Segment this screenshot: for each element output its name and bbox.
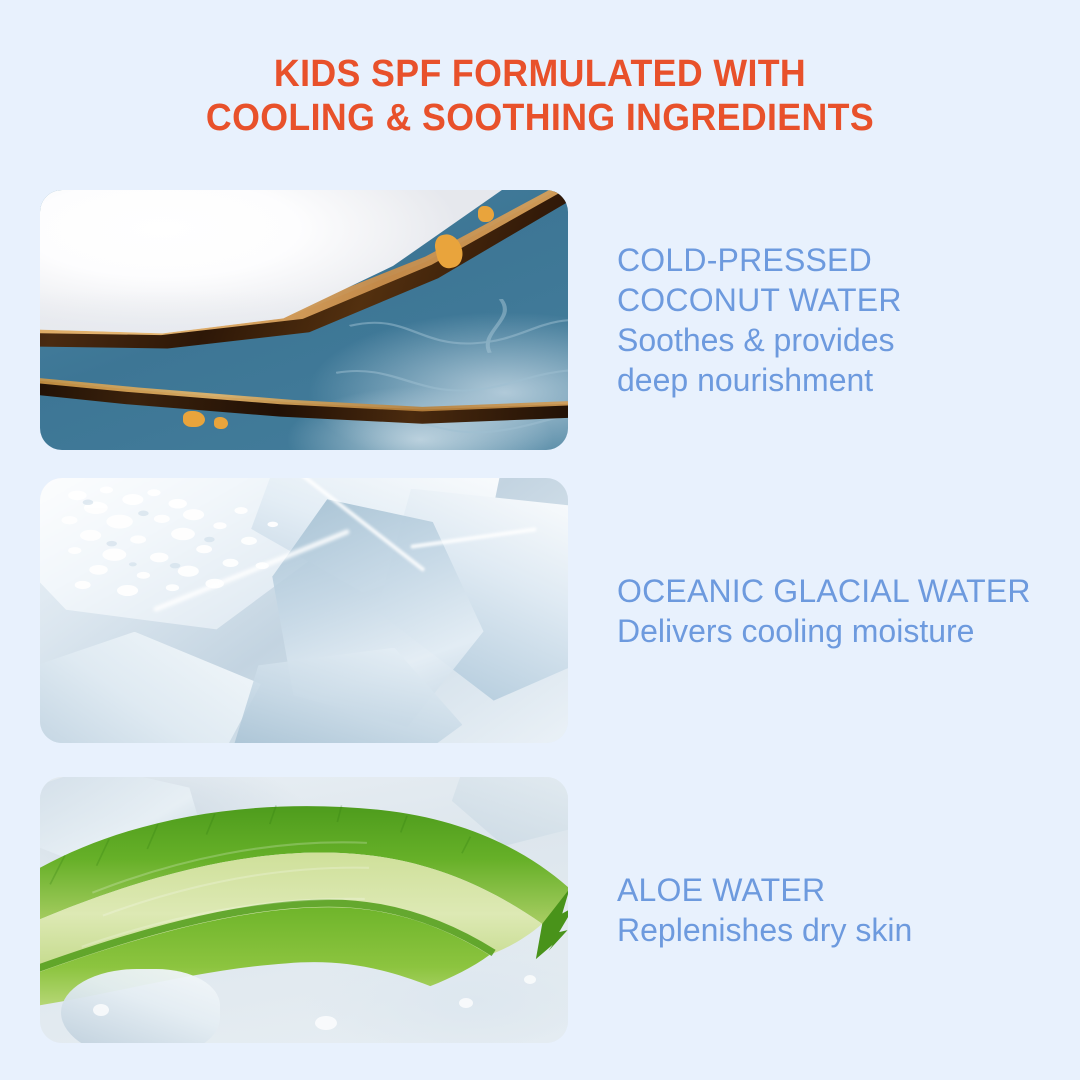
- coconut-fragment-icon: [478, 206, 494, 222]
- page-title: KIDS SPF FORMULATED WITH COOLING & SOOTH…: [32, 52, 1047, 140]
- water-droplet-icon: [315, 1016, 337, 1030]
- coconut-water-photo: [40, 190, 568, 450]
- aloe-water-photo: [40, 777, 568, 1043]
- ingredient-name: COLD-PRESSEDCOCONUT WATER: [617, 240, 1040, 320]
- page-title-line-2: COOLING & SOOTHING INGREDIENTS: [32, 96, 1047, 140]
- ingredient-copy-oceanic-glacial-water: OCEANIC GLACIAL WATER Delivers cooling m…: [568, 571, 1040, 651]
- ingredient-copy-coconut-water: COLD-PRESSEDCOCONUT WATER Soothes & prov…: [568, 240, 1040, 400]
- coconut-fragment-icon: [183, 411, 205, 427]
- ingredient-row-aloe-water: ALOE WATER Replenishes dry skin: [40, 777, 1040, 1043]
- ingredient-description: Delivers cooling moisture: [617, 611, 1040, 651]
- ingredient-copy-aloe-water: ALOE WATER Replenishes dry skin: [568, 870, 1040, 950]
- water-marbling-icon: [336, 299, 568, 450]
- coconut-fragment-icon: [214, 417, 228, 429]
- ingredient-row-oceanic-glacial-water: OCEANIC GLACIAL WATER Delivers cooling m…: [40, 478, 1040, 743]
- ingredient-row-coconut-water: COLD-PRESSEDCOCONUT WATER Soothes & prov…: [40, 190, 1040, 450]
- ingredient-name: ALOE WATER: [617, 870, 1040, 910]
- ingredient-description: Replenishes dry skin: [617, 910, 1040, 950]
- ingredient-name: OCEANIC GLACIAL WATER: [617, 571, 1040, 611]
- page-title-line-1: KIDS SPF FORMULATED WITH: [32, 52, 1047, 96]
- ice-cube-shape: [61, 969, 219, 1043]
- glacial-ice-photo: [40, 478, 568, 743]
- ingredient-description: Soothes & providesdeep nourishment: [617, 320, 1040, 400]
